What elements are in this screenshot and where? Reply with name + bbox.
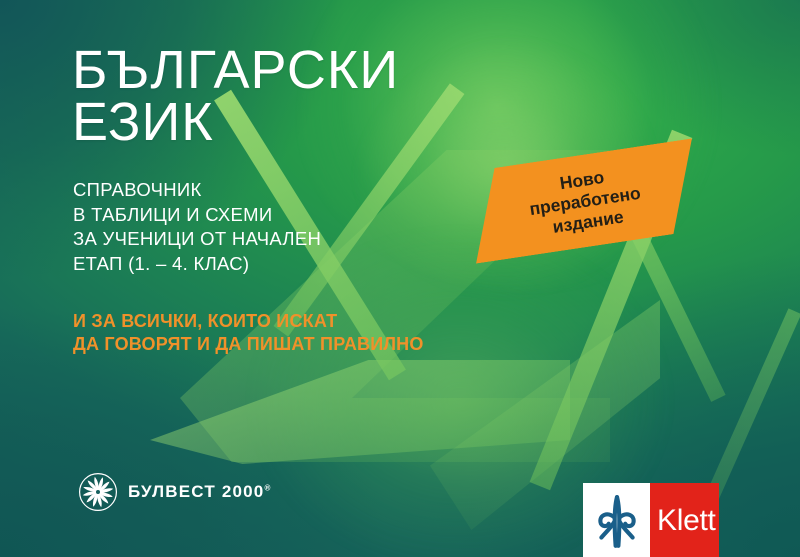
cover-subtitle: СПРАВОЧНИК В ТАБЛИЦИ И СХЕМИ ЗА УЧЕНИЦИ … xyxy=(73,178,321,276)
klett-wordmark-panel: Klett xyxy=(650,483,719,557)
pinwheel-icon xyxy=(78,472,118,512)
klett-emblem-panel xyxy=(583,483,650,557)
book-cover: БЪЛГАРСКИ ЕЗИК СПРАВОЧНИК В ТАБЛИЦИ И СХ… xyxy=(0,0,800,557)
cover-title: БЪЛГАРСКИ ЕЗИК xyxy=(72,44,399,148)
cover-tagline: И ЗА ВСИЧКИ, КОИТО ИСКАТ ДА ГОВОРЯТ И ДА… xyxy=(73,310,424,356)
publisher-name: БУЛВЕСТ 2000 xyxy=(128,482,264,501)
klett-wordmark: Klett xyxy=(657,506,716,536)
registered-trademark-icon: ® xyxy=(264,483,270,492)
klett-fleur-icon xyxy=(594,493,640,549)
publisher-logo-bulvest: БУЛВЕСТ 2000® xyxy=(78,472,270,512)
publisher-name-wrapper: БУЛВЕСТ 2000® xyxy=(128,482,270,502)
imprint-logo-klett: Klett xyxy=(583,483,719,557)
